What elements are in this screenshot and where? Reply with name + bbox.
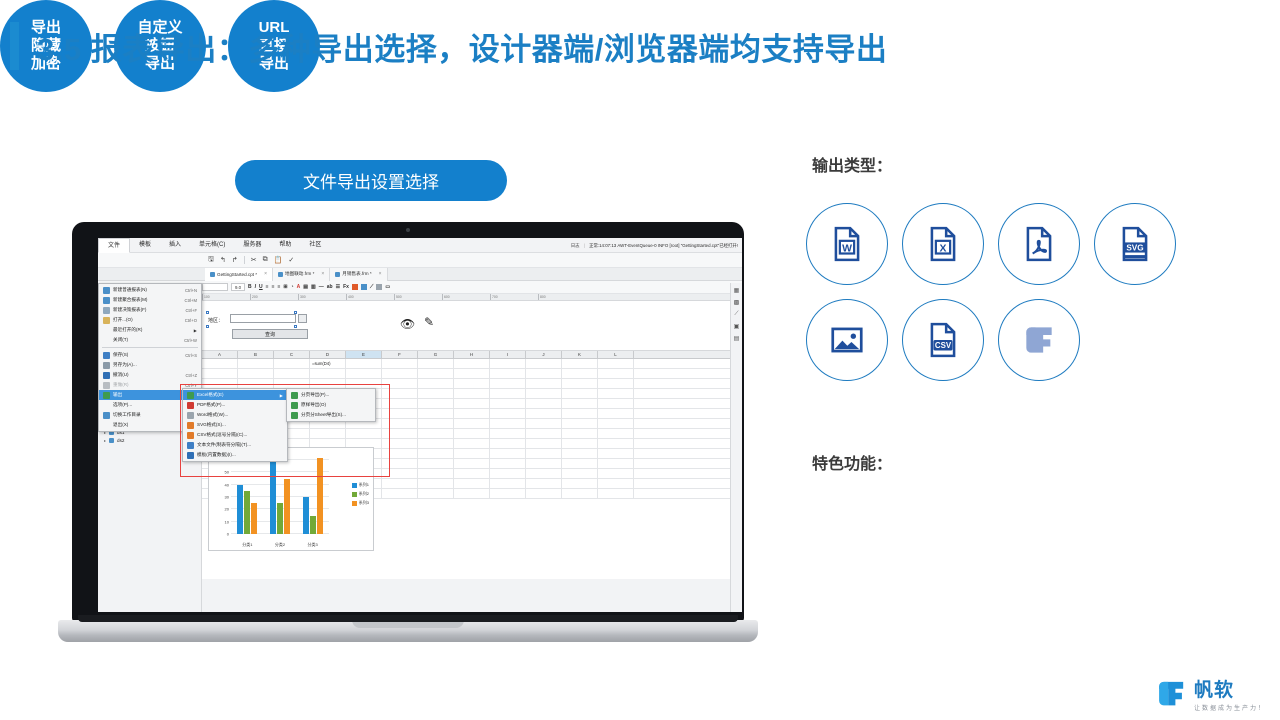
sheet-cell-h21[interactable] [454, 479, 490, 488]
log-label: 日志 [571, 243, 580, 248]
file-menu-item-保存S[interactable]: 保存(S)Ctrl+S [99, 350, 201, 360]
spreadsheet-area[interactable]: ABCDEFGHIJKL =sum(D4) 0102030405060 分类1分… [202, 351, 742, 579]
sheet-cell-l14[interactable] [598, 409, 634, 418]
laptop-base [58, 620, 758, 642]
ruler-tick: 200 [250, 294, 298, 300]
sheet-cell-j11[interactable] [526, 379, 562, 388]
sheet-cell-f20[interactable] [382, 469, 418, 478]
right-icon-rail: ▦ ▩ ⟋ ▣ ▤ [730, 283, 742, 612]
condition-icon[interactable]: ▣ [734, 323, 740, 330]
ruler-tick: 700 [490, 294, 538, 300]
menu-item-icon [103, 402, 110, 409]
widget-icon[interactable] [376, 284, 382, 290]
sheet-cell-k16[interactable] [562, 429, 598, 438]
logo-text-block: 帆软 让数据成为生产力！ [1194, 675, 1266, 712]
sheet-cell-l10[interactable] [598, 369, 634, 378]
menu-item-label: 另存为(A)... [113, 362, 197, 368]
column-header-e[interactable]: E [346, 351, 382, 358]
chart-bar [270, 460, 276, 534]
sheet-cell-f21[interactable] [382, 479, 418, 488]
sheet-cell-l21[interactable] [598, 479, 634, 488]
column-header-c[interactable]: C [274, 351, 310, 358]
chevron-right-icon[interactable]: ▸ [104, 438, 106, 443]
font-size-select[interactable]: 9.0 [231, 283, 245, 291]
export-item-PDF格式P[interactable]: PDF格式(P)... [183, 400, 287, 410]
csv-file-icon: CSV [924, 321, 962, 359]
pdf-file-icon [1020, 225, 1058, 263]
align-center-icon[interactable]: ≡ [272, 284, 275, 290]
sheet-cell-h20[interactable] [454, 469, 490, 478]
menu-item-shortcut: Ctrl+Y [185, 383, 197, 388]
menu-item-icon [103, 327, 110, 334]
sheet-cell-i22[interactable] [490, 489, 526, 498]
sheet-cell-i10[interactable] [490, 369, 526, 378]
export-item-CSV格式逗号分隔C[interactable]: CSV格式(逗号分隔)(C)... [183, 430, 287, 440]
chart-legend-swatch [352, 492, 357, 497]
column-header-h[interactable]: H [454, 351, 490, 358]
webcam-icon [406, 228, 410, 232]
sheet-cell-i16[interactable] [490, 429, 526, 438]
split-icon[interactable]: ▥ [311, 284, 316, 290]
menu-item-label: PDF格式(P)... [197, 402, 283, 408]
column-header-row: ABCDEFGHIJKL [202, 351, 742, 359]
export-submenu[interactable]: Excel格式(E)▶PDF格式(P)...Word格式(W)...SVG格式(… [182, 388, 288, 462]
chart-x-tick: 分类2 [275, 542, 285, 548]
sheet-cell-f16[interactable] [382, 429, 418, 438]
column-header-b[interactable]: B [238, 351, 274, 358]
sheet-cell-l20[interactable] [598, 469, 634, 478]
menu-community[interactable]: 社区 [300, 238, 330, 253]
fill-color-icon[interactable]: ◔ [291, 284, 294, 290]
underline-icon[interactable]: U [259, 284, 263, 290]
slide-header: 3.5 报表导出：多种导出选择，设计器端/浏览器端均支持导出 [10, 22, 887, 70]
laptop-hinge [78, 615, 738, 622]
sheet-cell-d10[interactable] [310, 369, 346, 378]
ruler-tick: 500 [394, 294, 442, 300]
sheet-cell-h19[interactable] [454, 459, 490, 468]
sheet-cell-i13[interactable] [490, 399, 526, 408]
export-item-Excel格式E[interactable]: Excel格式(E)▶ [183, 390, 287, 400]
sheet-cell-h11[interactable] [454, 379, 490, 388]
align-left-icon[interactable]: ≡ [266, 284, 269, 290]
query-button-label: 查询 [265, 331, 275, 338]
sheet-cell-l12[interactable] [598, 389, 634, 398]
sheet-cell-h17[interactable] [454, 439, 490, 448]
sheet-cell-l19[interactable] [598, 459, 634, 468]
column-header-a[interactable]: A [202, 351, 238, 358]
widget-settings-icon[interactable]: ▩ [734, 299, 740, 306]
sheet-cell-k18[interactable] [562, 449, 598, 458]
sheet-cell-f15[interactable] [382, 419, 418, 428]
menu-item-label: 输出 [113, 392, 186, 398]
file-menu-item-撤消U[interactable]: 撤消(U)Ctrl+Z [99, 370, 201, 380]
query-button[interactable]: 查询 [232, 329, 308, 339]
sheet-cell-k12[interactable] [562, 389, 598, 398]
sheet-cell-a10[interactable] [202, 369, 238, 378]
sheet-cell-e9[interactable] [346, 359, 382, 368]
edit-pencil-icon[interactable]: ✎ [424, 315, 434, 329]
menu-item-label: 新建决策报表(F) [113, 307, 175, 313]
borders-icon[interactable]: ⊞ [283, 284, 287, 290]
sheet-cell-j20[interactable] [526, 469, 562, 478]
align-right-icon[interactable]: ≡ [277, 284, 280, 290]
menu-item-icon [187, 442, 194, 449]
sheet-cell-j12[interactable] [526, 389, 562, 398]
sheet-cell-l11[interactable] [598, 379, 634, 388]
sheet-cell-h22[interactable] [454, 489, 490, 498]
sheet-cell-g9[interactable] [418, 359, 454, 368]
menu-item-icon [187, 452, 194, 459]
sheet-cell-h14[interactable] [454, 409, 490, 418]
sheet-cell-g16[interactable] [418, 429, 454, 438]
bold-icon[interactable]: B [248, 284, 252, 290]
column-header-f[interactable]: F [382, 351, 418, 358]
menu-item-label: SVG格式(S)... [197, 422, 283, 428]
menu-server[interactable]: 服务器 [234, 238, 270, 253]
italic-icon[interactable]: I [255, 284, 256, 290]
sheet-cell-k20[interactable] [562, 469, 598, 478]
finereport-logo-icon [1154, 677, 1188, 711]
cell-attribute-icon[interactable]: ▦ [734, 287, 740, 294]
sheet-cell-k22[interactable] [562, 489, 598, 498]
image-icon[interactable] [361, 284, 367, 290]
features-heading: 特色功能： [812, 450, 892, 474]
sheet-cell-f9[interactable] [382, 359, 418, 368]
sheet-cell-k11[interactable] [562, 379, 598, 388]
copy-icon[interactable]: ⧉ [263, 256, 268, 264]
sheet-cell-g12[interactable] [418, 389, 454, 398]
chart-legend-label: 系列3 [359, 500, 369, 506]
excel-item-分页分Sheet导出S[interactable]: 分页分Sheet导出(S)... [287, 410, 375, 420]
tab-close-icon[interactable]: × [264, 271, 267, 277]
page-title: 3.5 报表导出：多种导出选择，设计器端/浏览器端均支持导出 [37, 24, 887, 69]
menu-item-icon [291, 392, 298, 399]
font-color-icon[interactable]: A [297, 284, 301, 290]
chart-bar [317, 458, 323, 534]
sheet-cell-j19[interactable] [526, 459, 562, 468]
excel-item-分页导出P[interactable]: 分页导出(P)... [287, 390, 375, 400]
sheet-cell-k19[interactable] [562, 459, 598, 468]
selection-handle[interactable] [294, 325, 297, 328]
sheet-cell-i19[interactable] [490, 459, 526, 468]
sheet-cell-j18[interactable] [526, 449, 562, 458]
sheet-cell-f18[interactable] [382, 449, 418, 458]
svg-file-icon: SVG [1116, 225, 1154, 263]
brand-logo: 帆软 让数据成为生产力！ [1154, 675, 1266, 712]
menu-item-label: 切换工作目录 [113, 412, 186, 418]
sheet-cell-k10[interactable] [562, 369, 598, 378]
ruler-tick: 300 [298, 294, 346, 300]
export-item-Word格式W[interactable]: Word格式(W)... [183, 410, 287, 420]
chart-legend-swatch [352, 483, 357, 488]
chart-bar-group [237, 454, 257, 534]
svg-text:SVG: SVG [1126, 243, 1143, 252]
frm-file-icon [335, 272, 340, 277]
chart-icon[interactable] [352, 284, 358, 290]
sheet-cell-f10[interactable] [382, 369, 418, 378]
sheet-cell-i9[interactable] [490, 359, 526, 368]
menu-item-icon [103, 422, 110, 429]
export-item-文本文件制表符分隔T[interactable]: 文本文件(制表符分隔)(T)... [183, 440, 287, 450]
ruler-tick: 400 [346, 294, 394, 300]
sheet-cell-g11[interactable] [418, 379, 454, 388]
bar-chart[interactable]: 0102030405060 分类1分类2分类3 系列1系列2系列3 [208, 447, 374, 551]
menu-item-shortcut: Ctrl+F [185, 308, 197, 313]
finereport-template-icon [1019, 320, 1059, 360]
sheet-cell-f11[interactable] [382, 379, 418, 388]
formula-icon[interactable]: Fx [343, 284, 349, 290]
menu-item-icon [103, 317, 110, 324]
chart-bar [310, 516, 316, 534]
menu-item-label: Excel格式(E) [197, 392, 272, 398]
more-icon[interactable]: ▭ [385, 284, 390, 290]
sheet-cell-g20[interactable] [418, 469, 454, 478]
sheet-cell-b9[interactable] [238, 359, 274, 368]
sheet-cell-h15[interactable] [454, 419, 490, 428]
sheet-cell-k9[interactable] [562, 359, 598, 368]
sheet-cell-c11[interactable] [274, 379, 310, 388]
logo-tagline: 让数据成为生产力！ [1194, 703, 1266, 712]
output-type-template[interactable] [998, 299, 1080, 381]
output-type-csv[interactable]: CSV [902, 299, 984, 381]
hyperlink-icon[interactable]: ⟋ [370, 284, 374, 290]
hide-preview-icon[interactable]: 👁 [400, 317, 415, 331]
sheet-cell-d11[interactable] [310, 379, 346, 388]
sheet-cell-k17[interactable] [562, 439, 598, 448]
menu-item-icon [103, 352, 110, 359]
save-icon[interactable]: 🖫 [208, 255, 214, 266]
excel-format-submenu[interactable]: 分页导出(P)...原样导出(O)分页分Sheet导出(S)... [286, 388, 376, 422]
chart-y-tick: 0 [227, 532, 229, 537]
redo-icon[interactable]: ↱ [232, 256, 238, 264]
menu-item-icon [103, 297, 110, 304]
menu-item-label: 打开...(O) [113, 317, 175, 323]
sheet-cell-i11[interactable] [490, 379, 526, 388]
file-menu-item-关闭T[interactable]: 关闭(T)Ctrl+W [99, 335, 201, 345]
sheet-row[interactable] [202, 369, 742, 379]
export-item-SVG格式S[interactable]: SVG格式(S)... [183, 420, 287, 430]
tab-close-icon[interactable]: × [321, 271, 324, 277]
sheet-cell-i17[interactable] [490, 439, 526, 448]
chart-y-tick: 50 [225, 470, 229, 475]
menu-item-label: 重做(R) [113, 382, 175, 388]
sheet-cell-h18[interactable] [454, 449, 490, 458]
sheet-cell-j13[interactable] [526, 399, 562, 408]
sheet-cell-k14[interactable] [562, 409, 598, 418]
menu-item-shortcut: Ctrl+M [185, 298, 197, 303]
output-type-svg[interactable]: SVG [1094, 203, 1176, 285]
log-separator: | [584, 243, 585, 248]
hyperlink-rail-icon[interactable]: ⟋ [734, 311, 738, 318]
tab-label: GettingStarted.cpt * [217, 272, 257, 277]
menu-item-icon [103, 362, 110, 369]
sheet-cell-f13[interactable] [382, 399, 418, 408]
sheet-row[interactable]: =sum(D4) [202, 359, 742, 369]
chart-x-labels: 分类1分类2分类3 [231, 542, 329, 548]
list-icon[interactable]: ☰ [336, 284, 340, 290]
column-header-d[interactable]: D [310, 351, 346, 358]
sheet-cell-k21[interactable] [562, 479, 598, 488]
sheet-cell-j15[interactable] [526, 419, 562, 428]
sheet-cell-j10[interactable] [526, 369, 562, 378]
file-menu-item-新建聚合报表M[interactable]: 新建聚合报表(M)Ctrl+M [99, 295, 201, 305]
sheet-cell-i12[interactable] [490, 389, 526, 398]
sheet-cell-g22[interactable] [418, 489, 454, 498]
sheet-cell-f12[interactable] [382, 389, 418, 398]
sheet-cell-d16[interactable] [310, 429, 346, 438]
dataset-label: ds2 [117, 438, 124, 443]
sheet-cell-b11[interactable] [238, 379, 274, 388]
chart-legend-label: 系列2 [359, 491, 369, 497]
tab-gettingstarted[interactable]: GettingStarted.cpt * × [205, 268, 273, 281]
sheet-cell-h12[interactable] [454, 389, 490, 398]
sheet-cell-k15[interactable] [562, 419, 598, 428]
frm-file-icon [278, 272, 283, 277]
output-type-excel[interactable]: X [902, 203, 984, 285]
sheet-cell-i20[interactable] [490, 469, 526, 478]
submenu-arrow-icon: ▶ [280, 393, 283, 398]
output-type-image[interactable] [806, 299, 888, 381]
sheet-cell-g19[interactable] [418, 459, 454, 468]
sheet-cell-h9[interactable] [454, 359, 490, 368]
sheet-cell-f17[interactable] [382, 439, 418, 448]
sheet-cell-j14[interactable] [526, 409, 562, 418]
column-header-k[interactable]: K [562, 351, 598, 358]
column-header-i[interactable]: I [490, 351, 526, 358]
sheet-cell-l13[interactable] [598, 399, 634, 408]
sheet-cell-f14[interactable] [382, 409, 418, 418]
sheet-cell-k13[interactable] [562, 399, 598, 408]
sheet-cell-g15[interactable] [418, 419, 454, 428]
output-types-grid: W X SVG [806, 203, 1186, 381]
output-type-word[interactable]: W [806, 203, 888, 285]
file-menu-item-打开O[interactable]: 打开...(O)Ctrl+O [99, 315, 201, 325]
sheet-cell-g14[interactable] [418, 409, 454, 418]
sheet-cell-e11[interactable] [346, 379, 382, 388]
menu-item-icon [187, 392, 194, 399]
sheet-cell-j16[interactable] [526, 429, 562, 438]
selection-handle[interactable] [206, 311, 209, 314]
chart-y-tick: 10 [225, 519, 229, 524]
sheet-cell-l18[interactable] [598, 449, 634, 458]
menu-separator [102, 347, 198, 348]
sheet-cell-g13[interactable] [418, 399, 454, 408]
sheet-cell-e10[interactable] [346, 369, 382, 378]
sheet-cell-a9[interactable] [202, 359, 238, 368]
sheet-cell-j22[interactable] [526, 489, 562, 498]
chart-bar-group [270, 454, 290, 534]
tab-monthly-sales[interactable]: 月销售表.frm * × [330, 268, 387, 281]
sheet-cell-g10[interactable] [418, 369, 454, 378]
sheet-cell-l15[interactable] [598, 419, 634, 428]
menu-item-label: 保存(S) [113, 352, 175, 358]
chart-legend: 系列1系列2系列3 [352, 482, 369, 509]
cut-icon[interactable]: ✂ [251, 256, 257, 264]
file-menu-item-新建决策报表F[interactable]: 新建决策报表(F)Ctrl+F [99, 305, 201, 315]
file-menu-item-最近打开的R[interactable]: 最近打开的(R)▶ [99, 325, 201, 335]
sheet-cell-j21[interactable] [526, 479, 562, 488]
region-combobox-input[interactable] [230, 314, 296, 323]
menu-help[interactable]: 帮助 [270, 238, 300, 253]
sheet-cell-i14[interactable] [490, 409, 526, 418]
menu-item-icon [187, 412, 194, 419]
merge-icon[interactable]: ▤ [303, 284, 308, 290]
menu-item-icon [187, 432, 194, 439]
excel-item-原样导出O[interactable]: 原样导出(O) [287, 400, 375, 410]
sheet-cell-c9[interactable] [274, 359, 310, 368]
svg-text:W: W [842, 243, 852, 254]
tab-map-linkage[interactable]: 地图联动.frm * × [273, 268, 330, 281]
sheet-cell-h13[interactable] [454, 399, 490, 408]
ruler-tick: 600 [442, 294, 490, 300]
menu-cell[interactable]: 单元格(C) [190, 238, 234, 253]
sheet-cell-f22[interactable] [382, 489, 418, 498]
font-family-select[interactable] [202, 283, 228, 291]
file-menu-item-另存为A[interactable]: 另存为(A)... [99, 360, 201, 370]
undo-icon[interactable]: ↰ [220, 256, 226, 264]
sheet-cell-i18[interactable] [490, 449, 526, 458]
layout-icon[interactable]: ▤ [734, 335, 740, 342]
sheet-cell-i15[interactable] [490, 419, 526, 428]
format-painter-icon[interactable]: ✓ [288, 256, 294, 264]
sheet-cell-h10[interactable] [454, 369, 490, 378]
log-text: 正常:14:07:13 AWT-EventQueue-0 INFO [root]… [589, 243, 738, 248]
sheet-cell-h16[interactable] [454, 429, 490, 438]
line-icon[interactable]: — [319, 284, 324, 290]
sheet-cell-l17[interactable] [598, 439, 634, 448]
column-header-l[interactable]: L [598, 351, 634, 358]
menu-item-shortcut: Ctrl+O [185, 318, 197, 323]
finereport-designer-window: 文件 模板 插入 单元格(C) 服务器 帮助 社区 日志 | 正常:14:07:… [98, 238, 742, 612]
svg-text:CSV: CSV [935, 341, 952, 350]
paste-icon[interactable]: 📋 [274, 256, 283, 264]
region-combobox-button[interactable] [298, 314, 307, 323]
sheet-cell-j17[interactable] [526, 439, 562, 448]
menu-item-label: 文本文件(制表符分隔)(T)... [197, 442, 283, 448]
column-header-g[interactable]: G [418, 351, 454, 358]
file-menu-item-新建普通报表N[interactable]: 新建普通报表(N)Ctrl+N [99, 285, 201, 295]
menu-file[interactable]: 文件 [98, 238, 130, 253]
export-item-模板内置数据I[interactable]: 模板(内置数据)(I)... [183, 450, 287, 460]
menu-item-label: CSV格式(逗号分隔)(C)... [197, 432, 283, 438]
sheet-cell-j9[interactable] [526, 359, 562, 368]
chart-legend-item: 系列3 [352, 500, 369, 506]
sheet-cell-g18[interactable] [418, 449, 454, 458]
sheet-cell-f19[interactable] [382, 459, 418, 468]
column-header-j[interactable]: J [526, 351, 562, 358]
sheet-cell-l22[interactable] [598, 489, 634, 498]
sheet-cell-c10[interactable] [274, 369, 310, 378]
sheet-cell-b10[interactable] [238, 369, 274, 378]
sheet-cell-i21[interactable] [490, 479, 526, 488]
menu-item-label: 新建普通报表(N) [113, 287, 175, 293]
chart-legend-item: 系列1 [352, 482, 369, 488]
menu-item-label: 新建聚合报表(M) [113, 297, 175, 303]
sheet-cell-l16[interactable] [598, 429, 634, 438]
menu-insert[interactable]: 插入 [160, 238, 190, 253]
abc-icon[interactable]: ab [327, 284, 333, 290]
output-type-pdf[interactable] [998, 203, 1080, 285]
sheet-cell-e16[interactable] [346, 429, 382, 438]
sheet-cell-g17[interactable] [418, 439, 454, 448]
selection-handle[interactable] [206, 325, 209, 328]
tab-close-icon[interactable]: × [379, 271, 382, 277]
sheet-cell-l9[interactable] [598, 359, 634, 368]
sheet-cell-a11[interactable] [202, 379, 238, 388]
menu-template[interactable]: 模板 [130, 238, 160, 253]
sheet-cell-formula[interactable]: =sum(D4) [310, 359, 346, 368]
sheet-cell-g21[interactable] [418, 479, 454, 488]
